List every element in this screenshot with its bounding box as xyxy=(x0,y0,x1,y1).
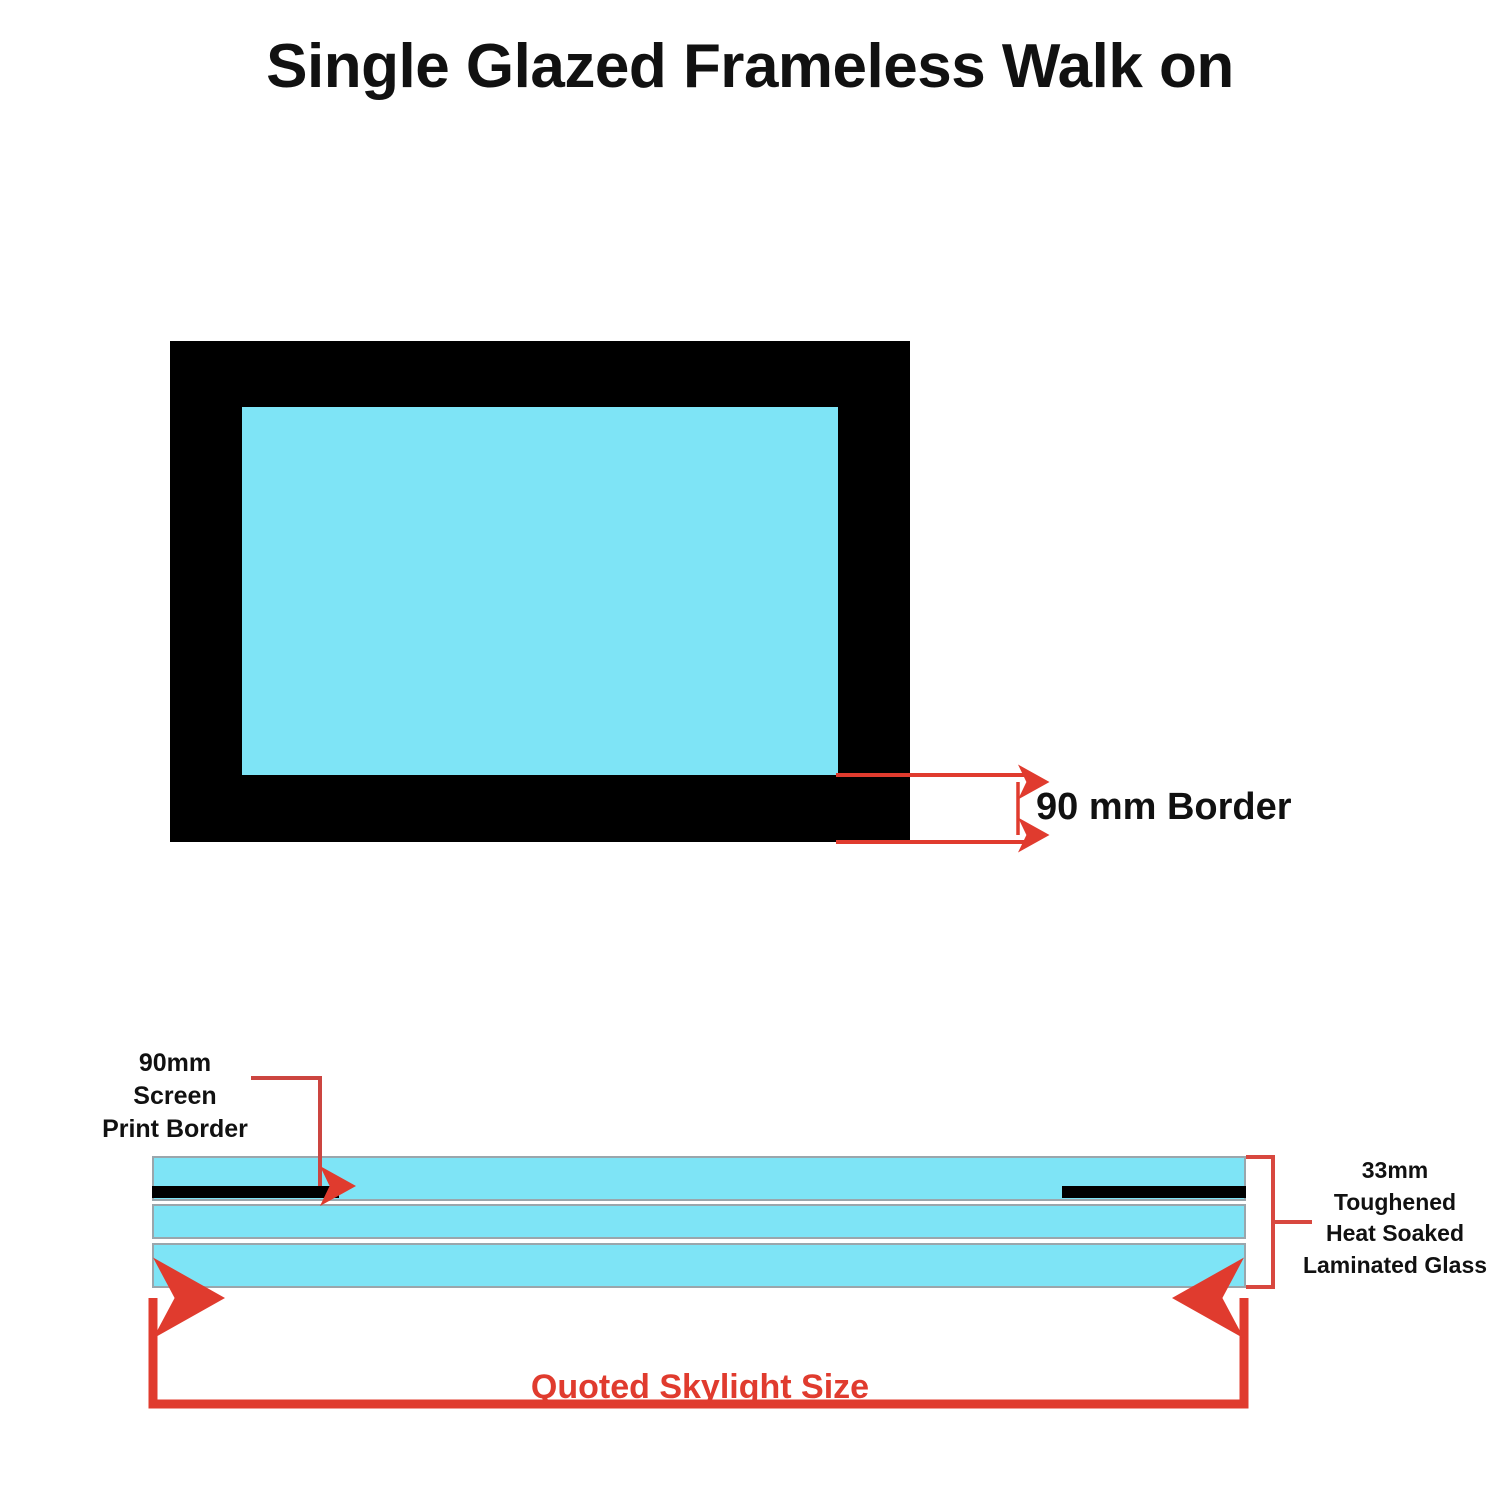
left-screen-print-band xyxy=(152,1186,339,1198)
diagram-canvas: Single Glazed Frameless Walk on xyxy=(0,0,1500,1500)
right-screen-print-band xyxy=(1062,1186,1246,1198)
screen-print-callout-label: 90mm Screen Print Border xyxy=(95,1047,255,1146)
quoted-size-label: Quoted Skylight Size xyxy=(0,1368,1400,1407)
glass-spec-line-2: Toughened xyxy=(1300,1187,1490,1219)
page-title: Single Glazed Frameless Walk on xyxy=(0,34,1500,99)
glass-spec-line-4: Laminated Glass xyxy=(1300,1250,1490,1282)
screen-print-callout-line-2: Print Border xyxy=(95,1113,255,1146)
screen-print-callout-line-1: 90mm Screen xyxy=(95,1047,255,1113)
plan-view-vision-area xyxy=(242,407,838,775)
glass-spec-label: 33mm Toughened Heat Soaked Laminated Gla… xyxy=(1300,1155,1490,1282)
section-glass-layer-middle xyxy=(152,1204,1246,1239)
section-glass-layer-bottom xyxy=(152,1243,1246,1288)
glass-spec-line-1: 33mm xyxy=(1300,1155,1490,1187)
glass-spec-line-3: Heat Soaked xyxy=(1300,1218,1490,1250)
border-dimension-label: 90 mm Border xyxy=(1036,786,1292,829)
